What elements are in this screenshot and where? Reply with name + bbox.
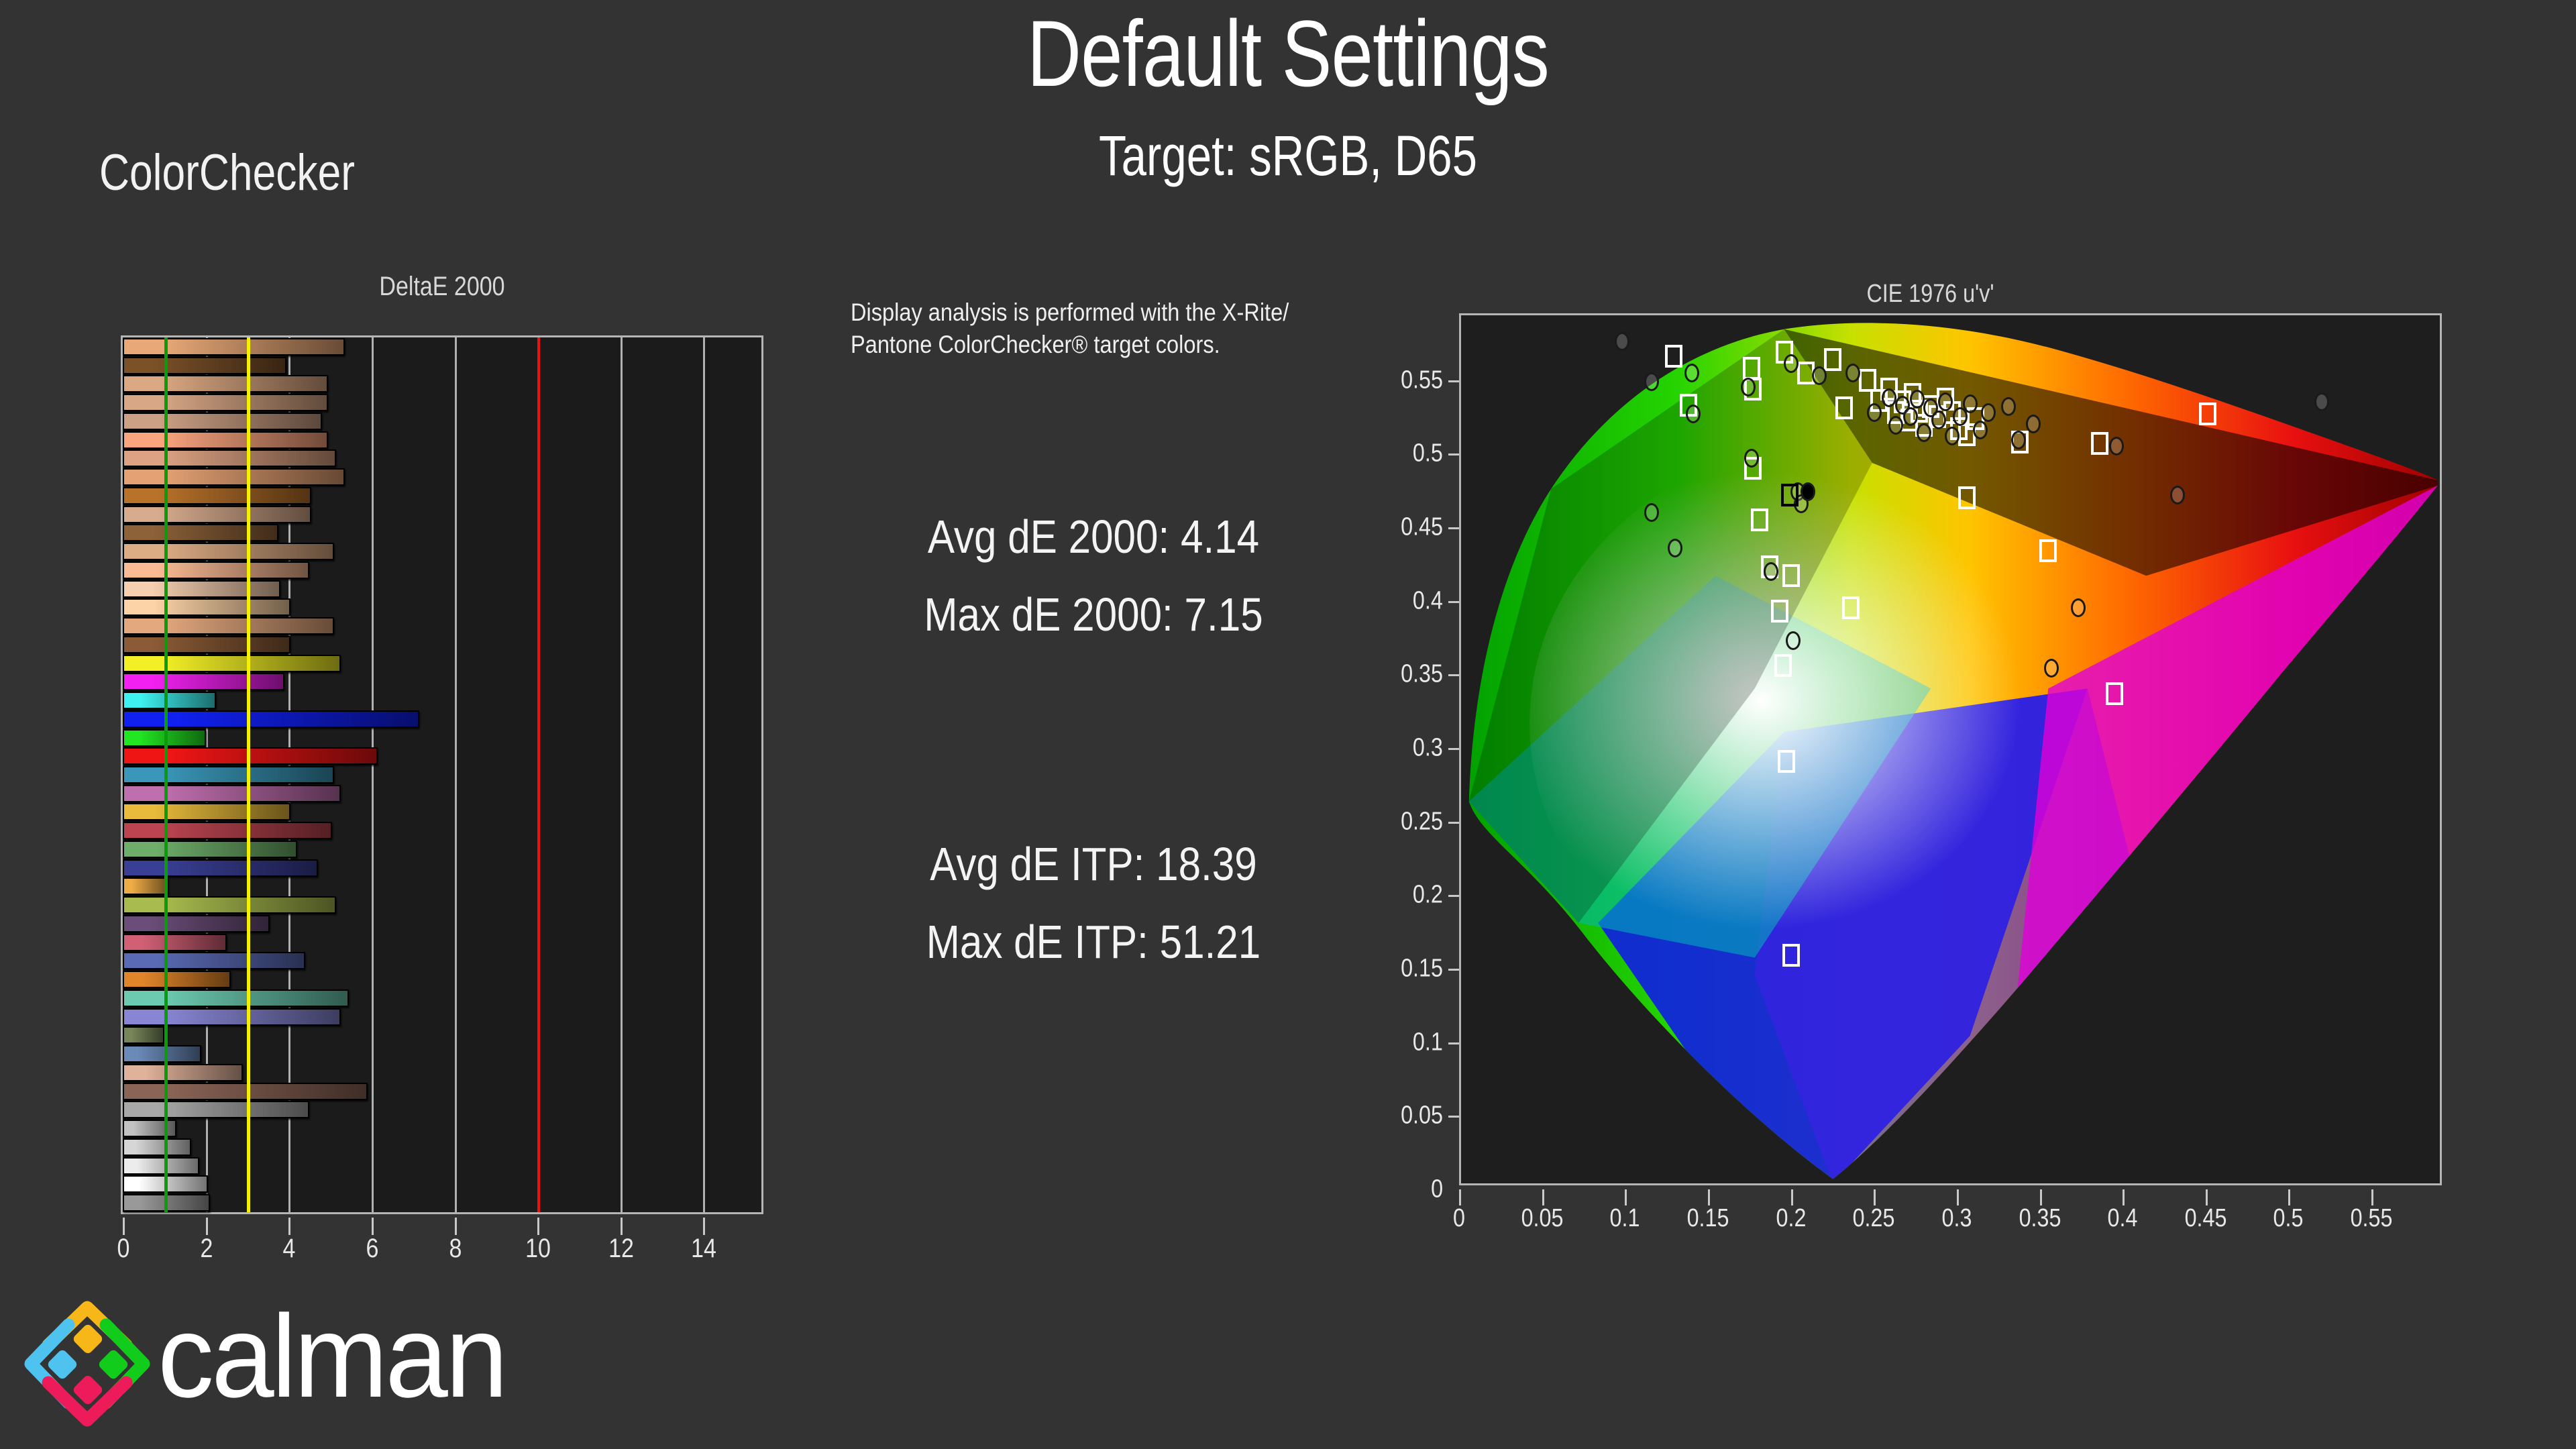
- deltae-bar: [123, 1008, 341, 1026]
- cie-target-point: [2091, 432, 2108, 455]
- cie-measured-point: [2001, 397, 2016, 416]
- cie-target-point: [1782, 564, 1800, 587]
- deltae-bar: [123, 896, 336, 914]
- cie-target-point: [1774, 654, 1792, 677]
- deltae-x-tick-label: 10: [525, 1234, 551, 1264]
- stat-max-deitp: Max dE ITP: 51.21: [834, 915, 1353, 969]
- cie-target-point: [1835, 396, 1853, 419]
- cie-measured-point: [1644, 503, 1659, 522]
- calman-wordmark: calman: [158, 1298, 506, 1415]
- page-title: Default Settings: [258, 7, 2318, 101]
- cie-y-axis: 0.050.10.150.20.250.30.350.40.450.50.550: [1419, 313, 1459, 1185]
- cie-measured-point: [1963, 394, 1978, 413]
- cie-measured-point: [2314, 392, 2329, 411]
- cie-measured-point: [2109, 437, 2124, 455]
- deltae-x-tick-label: 4: [283, 1234, 296, 1264]
- deltae-bar: [123, 636, 290, 653]
- deltae-chart-title: DeltaE 2000: [169, 272, 715, 302]
- deltae-bar: [123, 1101, 309, 1118]
- deltae-bar: [123, 1120, 176, 1137]
- cie-x-tick: [1459, 1189, 1461, 1205]
- cie-measured-point: [1931, 411, 1946, 429]
- deltae-bar: [123, 561, 309, 579]
- cie-x-axis: 00.050.10.150.20.250.30.350.40.450.50.55: [1459, 1189, 2442, 1230]
- cie-y-tick-label: 0.4: [1413, 586, 1443, 615]
- deltae-bar: [123, 766, 334, 784]
- deltae-x-tick-label: 2: [200, 1234, 213, 1264]
- cie-gamut-shape: [1461, 315, 2440, 1183]
- cie-y-tick: [1448, 822, 1459, 824]
- deltae-threshold-10: [537, 337, 540, 1212]
- cie-x-tick: [2040, 1189, 2042, 1205]
- cie-y-tick: [1448, 380, 1459, 382]
- cie-measured-point: [1644, 372, 1659, 391]
- cie-measured-point: [1684, 364, 1699, 382]
- cie-measured-point: [1668, 539, 1682, 557]
- cie-target-point: [2039, 539, 2057, 562]
- stat-avg-deitp: Avg dE ITP: 18.39: [834, 837, 1353, 891]
- cie-chart-title: CIE 1976 u'v': [1495, 280, 2365, 309]
- deltae-bar: [123, 449, 336, 467]
- deltae-bar: [123, 413, 322, 430]
- cie-x-tick-label: 0.5: [2273, 1204, 2304, 1233]
- cie-measured-point: [2044, 659, 2059, 678]
- cie-measured-point: [1917, 423, 1931, 442]
- cie-x-tick: [2371, 1189, 2373, 1205]
- cie-y-tick: [1448, 895, 1459, 897]
- cie-x-tick-label: 0.55: [2351, 1204, 2393, 1233]
- cie-y-tick-label: 0.05: [1401, 1102, 1443, 1130]
- cie-measured-point: [1845, 364, 1860, 382]
- cie-x-tick: [1874, 1189, 1876, 1205]
- deltae-bar: [123, 375, 328, 392]
- cie-target-point: [2199, 402, 2216, 425]
- cie-x-tick-label: 0.45: [2184, 1204, 2226, 1233]
- deltae-x-tick-label: 0: [117, 1234, 130, 1264]
- deltae-bar: [123, 822, 332, 839]
- deltae-bar: [123, 803, 290, 820]
- cie-y-tick: [1448, 1042, 1459, 1044]
- deltae-bar: [123, 1157, 199, 1175]
- cie-target-point: [1665, 345, 1682, 368]
- cie-x-tick: [2123, 1189, 2125, 1205]
- deltae-bar: [123, 506, 311, 523]
- cie-y-tick: [1448, 527, 1459, 529]
- cie-y-tick-label: 0.1: [1413, 1028, 1443, 1057]
- cie-measured-point: [1786, 631, 1801, 650]
- deltae-bar: [123, 357, 286, 374]
- cie-measured-point: [1945, 427, 1960, 445]
- cie-x-tick-label: 0.25: [1853, 1204, 1895, 1233]
- deltae-x-tick: [123, 1218, 125, 1235]
- deltae-x-tick-label: 8: [449, 1234, 462, 1264]
- calman-logo: calman: [20, 1291, 664, 1436]
- deltae-bar: [123, 1045, 201, 1063]
- cie-target-point: [1778, 750, 1795, 773]
- cie-y-tick: [1448, 969, 1459, 971]
- deltae-bar: [123, 971, 231, 988]
- deltae-bar: [123, 580, 280, 598]
- cie-plot-area: [1459, 313, 2442, 1185]
- deltae-bar: [123, 487, 311, 504]
- deltae-bar-chart: DeltaE 2000 02468101214: [121, 315, 763, 1228]
- cie-measured-point: [1744, 449, 1759, 468]
- cie-target-point: [2106, 682, 2123, 705]
- cie-measured-point: [1764, 562, 1778, 581]
- deltae-x-tick: [537, 1218, 539, 1235]
- deltae-x-tick: [455, 1218, 457, 1235]
- deltae-x-tick-label: 12: [608, 1234, 634, 1264]
- deltae-bar: [123, 543, 334, 560]
- cie-y-tick-label: 0.15: [1401, 955, 1443, 983]
- cie-measured-point: [1867, 403, 1882, 422]
- cie-x-tick-label: 0.15: [1686, 1204, 1729, 1233]
- cie-measured-point: [1741, 378, 1756, 396]
- deltae-bar: [123, 1064, 243, 1081]
- cie-measured-point: [2170, 486, 2185, 504]
- deltae-threshold-3: [247, 337, 250, 1212]
- cie-x-tick-label: 0.1: [1610, 1204, 1640, 1233]
- cie-x-tick-label: 0.35: [2019, 1204, 2061, 1233]
- deltae-bar: [123, 617, 334, 635]
- cie-measured-point: [1615, 332, 1629, 351]
- cie-target-point: [1751, 508, 1768, 531]
- cie-y-tick-label: 0: [1431, 1175, 1443, 1204]
- deltae-bar: [123, 859, 318, 877]
- colorchecker-label: ColorChecker: [99, 144, 355, 202]
- deltae-x-tick: [703, 1218, 705, 1235]
- cie-y-tick-label: 0.45: [1401, 513, 1443, 542]
- cie-y-tick: [1448, 1116, 1459, 1118]
- stat-max-de2000: Max dE 2000: 7.15: [834, 588, 1353, 641]
- cie-measured-point: [1686, 405, 1701, 423]
- cie-measured-point: [1973, 421, 1988, 439]
- cie-x-tick: [2288, 1189, 2290, 1205]
- stat-avg-de2000: Avg dE 2000: 4.14: [834, 510, 1353, 563]
- cie-y-tick-label: 0.2: [1413, 881, 1443, 910]
- deltae-x-tick: [372, 1218, 374, 1235]
- deltae-x-tick-label: 14: [692, 1234, 717, 1264]
- deltae-bar: [123, 655, 341, 672]
- deltae-bar: [123, 673, 284, 690]
- cie-x-tick: [1791, 1189, 1793, 1205]
- deltae-bars: [123, 337, 761, 1212]
- deltae-x-axis: 02468101214: [121, 1218, 763, 1258]
- deltae-x-tick: [621, 1218, 623, 1235]
- cie-x-tick-label: 0.3: [1941, 1204, 1972, 1233]
- page-subtitle: Target: sRGB, D65: [258, 127, 2318, 184]
- cie-y-tick-label: 0.25: [1401, 807, 1443, 836]
- cie-x-tick: [1542, 1189, 1544, 1205]
- calman-logo-mark: [20, 1297, 154, 1431]
- cie-x-tick: [1625, 1189, 1627, 1205]
- cie-measured-point: [1903, 407, 1918, 426]
- cie-target-point: [1782, 944, 1800, 967]
- cie-y-tick: [1448, 601, 1459, 603]
- cie-target-point: [1771, 600, 1788, 623]
- deltae-bar: [123, 1138, 191, 1156]
- deltae-bar: [123, 431, 328, 449]
- cie-measured-point: [1888, 416, 1903, 435]
- deltae-bar: [123, 468, 345, 486]
- cie-x-tick-label: 0.2: [1776, 1204, 1806, 1233]
- cie-y-tick-label: 0.55: [1401, 366, 1443, 394]
- cie-measured-point: [1812, 366, 1827, 385]
- deltae-bar: [123, 338, 345, 356]
- deltae-bar: [123, 394, 328, 411]
- cie-y-tick-label: 0.5: [1413, 439, 1443, 468]
- cie-white-point-point: [1781, 484, 1799, 506]
- cie-x-tick-label: 0.4: [2108, 1204, 2138, 1233]
- deltae-bar: [123, 785, 341, 802]
- cie-y-tick: [1448, 674, 1459, 676]
- deltae-bar: [123, 841, 297, 858]
- deltae-bar: [123, 1083, 368, 1100]
- cie-x-tick: [2206, 1189, 2208, 1205]
- cie-x-tick-label: 0.05: [1521, 1204, 1563, 1233]
- cie-measured-point: [2071, 598, 2086, 617]
- cie-target-point: [1842, 596, 1860, 619]
- deltae-bar: [123, 598, 290, 616]
- cie-measured-point: [1784, 354, 1799, 373]
- cie-measured-point: [2026, 415, 2041, 433]
- deltae-bar: [123, 524, 278, 541]
- deltae-bar: [123, 692, 216, 709]
- deltae-x-tick: [288, 1218, 290, 1235]
- cie-target-point: [1958, 486, 1976, 509]
- cie-target-point: [1859, 369, 1876, 392]
- deltae-bar: [123, 877, 168, 895]
- deltae-x-tick-label: 6: [366, 1234, 378, 1264]
- cie-x-tick: [1708, 1189, 1710, 1205]
- cie-y-tick: [1448, 453, 1459, 455]
- analysis-note: Display analysis is performed with the X…: [851, 297, 1346, 361]
- cie-measured-point: [2011, 431, 2026, 449]
- cie-measured-point: [1882, 388, 1896, 407]
- cie-y-tick: [1448, 748, 1459, 750]
- deltae-bar: [123, 1026, 164, 1044]
- deltae-plot-area: [121, 335, 763, 1214]
- cie-x-tick: [1957, 1189, 1959, 1205]
- cie-measured-point: [1938, 392, 1953, 411]
- cie-target-point: [1824, 348, 1841, 371]
- cie-chromaticity-chart: CIE 1976 u'v': [1419, 305, 2442, 1231]
- deltae-bar: [123, 952, 305, 969]
- cie-x-tick-label: 0: [1453, 1204, 1465, 1233]
- deltae-x-tick: [206, 1218, 208, 1235]
- cie-white-measured-point: [1801, 482, 1815, 501]
- deltae-bar: [123, 989, 349, 1007]
- cie-y-tick-label: 0.3: [1413, 734, 1443, 763]
- cie-measured-point: [1981, 403, 1996, 422]
- deltae-bar: [123, 934, 227, 951]
- cie-y-tick-label: 0.35: [1401, 660, 1443, 689]
- cie-measured-point: [1910, 390, 1925, 409]
- deltae-threshold-1: [164, 337, 168, 1212]
- cie-target-point: [1743, 357, 1760, 380]
